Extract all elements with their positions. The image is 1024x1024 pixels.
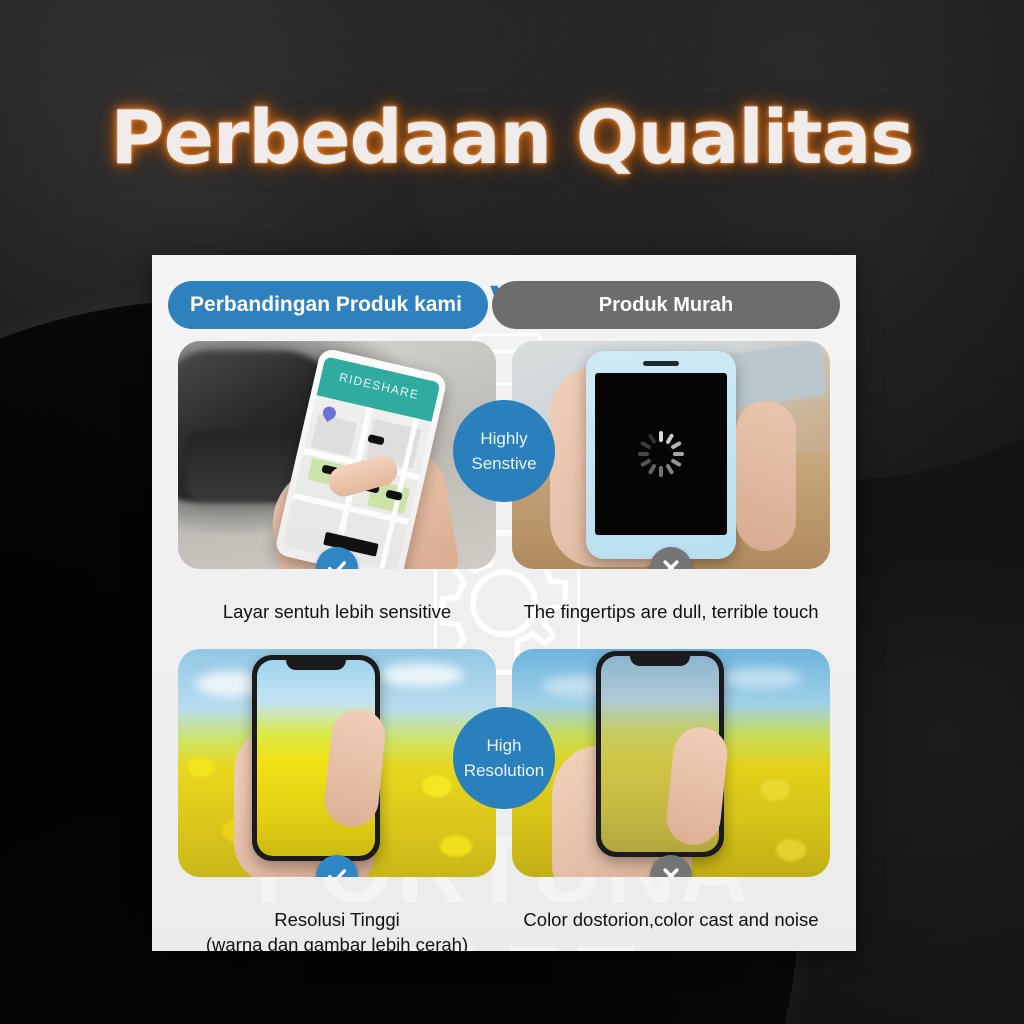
header-row: Perbandingan Produk kami VS Produk Murah [168, 281, 840, 329]
thumb-shape [736, 401, 796, 551]
center-badge-2-line1: High [487, 733, 522, 758]
caption-touch-theirs: The fingertips are dull, terrible touch [512, 599, 830, 624]
cell-touch-ours: RIDESHARE [178, 341, 496, 624]
photo-rideshare-phone: RIDESHARE [178, 341, 496, 569]
notch [630, 651, 690, 666]
photo-flower-field-dull [512, 649, 830, 877]
caption-line-1: Resolusi Tinggi [178, 907, 496, 932]
cell-touch-theirs: The fingertips are dull, terrible touch [512, 341, 830, 624]
caption-resolution-theirs: Color dostorion,color cast and noise [512, 907, 830, 932]
page-title-wrap: Perbedaan Qualitas [0, 95, 1024, 181]
our-product-pill[interactable]: Perbandingan Produk kami [168, 281, 488, 329]
phone-screen-black [595, 373, 727, 535]
center-badge-highly-sensitive: Highly Senstive [453, 400, 555, 502]
notch [286, 655, 346, 670]
cheap-product-label: Produk Murah [599, 294, 733, 317]
photo-flower-field-vivid [178, 649, 496, 877]
caption-resolution-ours: Resolusi Tinggi (warna dan gambar lebih … [178, 907, 496, 951]
earpiece-slot [643, 361, 679, 366]
caption-line-2: (warna dan gambar lebih cerah) [178, 932, 496, 951]
our-product-label: Perbandingan Produk kami [190, 293, 462, 317]
photo-loading-phone [512, 341, 830, 569]
caption-line-1: The fingertips are dull, terrible touch [512, 599, 830, 624]
cell-resolution-theirs: Color dostorion,color cast and noise [512, 649, 830, 932]
page-title: Perbedaan Qualitas [111, 95, 914, 181]
center-badge-2-line2: Resolution [464, 758, 544, 783]
caption-touch-ours: Layar sentuh lebih sensitive [178, 599, 496, 624]
poster-canvas: Perbedaan Qualitas FORTUNA PART Perbandi… [0, 0, 1024, 1024]
caption-line-1: Layar sentuh lebih sensitive [178, 599, 496, 624]
cheap-product-pill[interactable]: Produk Murah [492, 281, 840, 329]
blue-phone [586, 351, 736, 559]
loading-spinner-icon [638, 431, 684, 477]
center-badge-1-line2: Senstive [471, 451, 536, 476]
center-badge-high-resolution: High Resolution [453, 707, 555, 809]
caption-line-1: Color dostorion,color cast and noise [512, 907, 830, 932]
comparison-panel: FORTUNA PART Perbandingan Produk kami VS… [152, 255, 856, 951]
center-badge-1-line1: Highly [480, 426, 527, 451]
cell-resolution-ours: Resolusi Tinggi (warna dan gambar lebih … [178, 649, 496, 951]
